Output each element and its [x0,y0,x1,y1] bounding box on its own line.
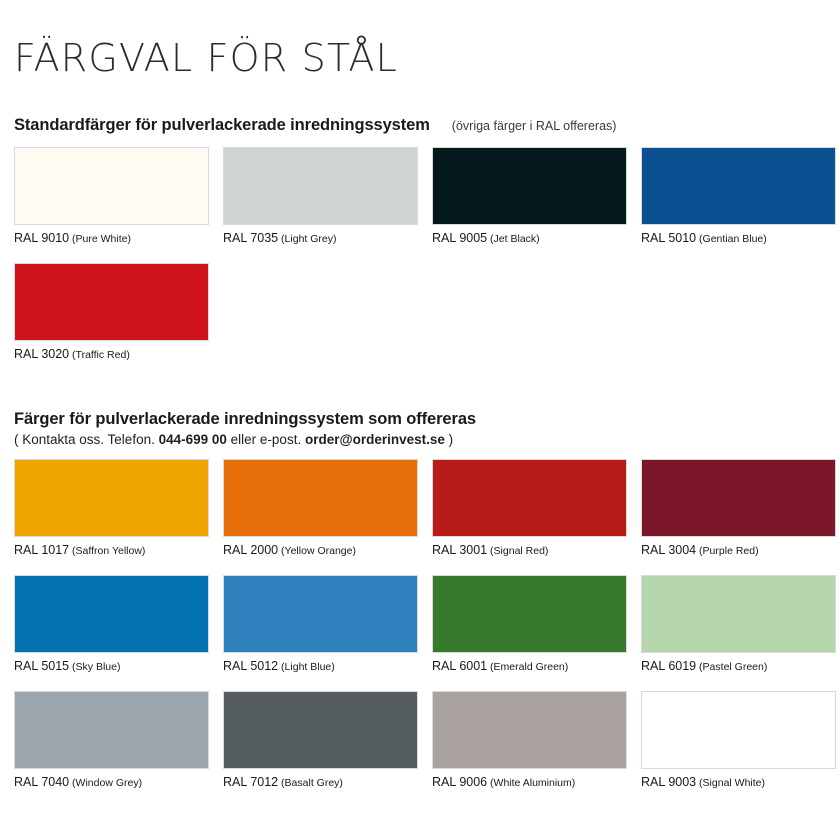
offered-color-grid: RAL 1017 (Saffron Yellow)RAL 2000 (Yello… [14,459,826,807]
swatch-ral-code: RAL 9005 [432,231,487,245]
swatch-label: RAL 1017 (Saffron Yellow) [14,542,209,558]
swatch-label: RAL 5012 (Light Blue) [223,658,418,674]
swatch-color-name: (Purple Red) [696,545,758,557]
swatch-color-name: (Pure White) [69,233,131,245]
swatch-label: RAL 9003 (Signal White) [641,774,836,790]
swatch-ral-code: RAL 1017 [14,543,69,557]
swatch-ral-code: RAL 6019 [641,659,696,673]
swatch-color-name: (Light Grey) [278,233,336,245]
color-swatch[interactable] [432,575,627,653]
swatch-label: RAL 9006 (White Aluminium) [432,774,627,790]
swatch-cell[interactable]: RAL 9006 (White Aluminium) [432,691,627,790]
swatch-cell[interactable]: RAL 5012 (Light Blue) [223,575,418,674]
swatch-color-name: (Signal Red) [487,545,548,557]
swatch-label: RAL 3004 (Purple Red) [641,542,836,558]
swatch-color-name: (Pastel Green) [696,661,767,673]
swatch-ral-code: RAL 7040 [14,775,69,789]
color-swatch[interactable] [223,459,418,537]
swatch-label: RAL 3020 (Traffic Red) [14,346,209,362]
swatch-ral-code: RAL 7012 [223,775,278,789]
color-swatch[interactable] [14,263,209,341]
swatch-cell[interactable]: RAL 3004 (Purple Red) [641,459,836,558]
swatch-ral-code: RAL 3020 [14,347,69,361]
swatch-label: RAL 6019 (Pastel Green) [641,658,836,674]
swatch-color-name: (Jet Black) [487,233,540,245]
swatch-ral-code: RAL 9003 [641,775,696,789]
swatch-color-name: (White Aluminium) [487,777,575,789]
contact-prefix: ( Kontakta oss. Telefon. [14,432,159,447]
swatch-cell[interactable]: RAL 1017 (Saffron Yellow) [14,459,209,558]
color-swatch[interactable] [14,147,209,225]
swatch-color-name: (Basalt Grey) [278,777,343,789]
swatch-cell[interactable]: RAL 6001 (Emerald Green) [432,575,627,674]
swatch-cell[interactable]: RAL 3020 (Traffic Red) [14,263,209,362]
swatch-color-name: (Sky Blue) [69,661,120,673]
color-swatch[interactable] [641,691,836,769]
color-swatch[interactable] [223,575,418,653]
swatch-color-name: (Light Blue) [278,661,335,673]
swatch-label: RAL 9005 (Jet Black) [432,230,627,246]
color-swatch[interactable] [223,147,418,225]
swatch-ral-code: RAL 9010 [14,231,69,245]
swatch-label: RAL 2000 (Yellow Orange) [223,542,418,558]
contact-phone[interactable]: 044-699 00 [159,432,227,447]
color-swatch[interactable] [641,459,836,537]
swatch-cell[interactable]: RAL 5015 (Sky Blue) [14,575,209,674]
color-chart-page: FÄRGVAL FÖR STÅL Standardfärger för pulv… [0,0,840,840]
contact-email[interactable]: order@orderinvest.se [305,432,445,447]
swatch-cell[interactable]: RAL 2000 (Yellow Orange) [223,459,418,558]
color-swatch[interactable] [432,459,627,537]
swatch-label: RAL 7040 (Window Grey) [14,774,209,790]
section-offered-header: Färger för pulverlackerade inredningssys… [14,410,826,447]
swatch-cell[interactable]: RAL 9010 (Pure White) [14,147,209,246]
color-swatch[interactable] [14,459,209,537]
swatch-color-name: (Signal White) [696,777,765,789]
swatch-cell[interactable]: RAL 7035 (Light Grey) [223,147,418,246]
swatch-ral-code: RAL 6001 [432,659,487,673]
color-swatch[interactable] [432,147,627,225]
color-swatch[interactable] [641,575,836,653]
swatch-ral-code: RAL 3001 [432,543,487,557]
swatch-color-name: (Saffron Yellow) [69,545,145,557]
swatch-label: RAL 9010 (Pure White) [14,230,209,246]
swatch-cell[interactable]: RAL 5010 (Gentian Blue) [641,147,836,246]
section-offered-title: Färger för pulverlackerade inredningssys… [14,410,826,429]
swatch-ral-code: RAL 9006 [432,775,487,789]
page-title: FÄRGVAL FÖR STÅL [14,0,826,80]
swatch-cell[interactable]: RAL 9003 (Signal White) [641,691,836,790]
swatch-label: RAL 3001 (Signal Red) [432,542,627,558]
color-swatch[interactable] [223,691,418,769]
swatch-label: RAL 5010 (Gentian Blue) [641,230,836,246]
swatch-color-name: (Window Grey) [69,777,142,789]
swatch-label: RAL 7035 (Light Grey) [223,230,418,246]
swatch-color-name: (Traffic Red) [69,349,130,361]
swatch-ral-code: RAL 5015 [14,659,69,673]
swatch-color-name: (Yellow Orange) [278,545,356,557]
swatch-ral-code: RAL 5012 [223,659,278,673]
swatch-cell[interactable]: RAL 7012 (Basalt Grey) [223,691,418,790]
swatch-cell[interactable]: RAL 7040 (Window Grey) [14,691,209,790]
swatch-label: RAL 7012 (Basalt Grey) [223,774,418,790]
swatch-cell[interactable]: RAL 9005 (Jet Black) [432,147,627,246]
section-standard-colors: Standardfärger för pulverlackerade inred… [14,116,826,379]
swatch-color-name: (Emerald Green) [487,661,568,673]
swatch-label: RAL 6001 (Emerald Green) [432,658,627,674]
section-standard-title: Standardfärger för pulverlackerade inred… [14,116,430,135]
swatch-ral-code: RAL 2000 [223,543,278,557]
color-swatch[interactable] [14,575,209,653]
swatch-ral-code: RAL 3004 [641,543,696,557]
swatch-cell[interactable]: RAL 6019 (Pastel Green) [641,575,836,674]
swatch-color-name: (Gentian Blue) [696,233,767,245]
section-offered-colors: Färger för pulverlackerade inredningssys… [14,410,826,807]
swatch-cell[interactable]: RAL 3001 (Signal Red) [432,459,627,558]
contact-line: ( Kontakta oss. Telefon. 044-699 00 elle… [14,432,826,447]
section-standard-header: Standardfärger för pulverlackerade inred… [14,116,826,135]
color-swatch[interactable] [14,691,209,769]
contact-middle: eller e-post. [227,432,305,447]
section-standard-note: (övriga färger i RAL offereras) [452,119,617,133]
swatch-ral-code: RAL 5010 [641,231,696,245]
color-swatch[interactable] [641,147,836,225]
color-swatch[interactable] [432,691,627,769]
swatch-label: RAL 5015 (Sky Blue) [14,658,209,674]
contact-suffix: ) [445,432,453,447]
standard-color-grid: RAL 9010 (Pure White)RAL 7035 (Light Gre… [14,147,826,379]
swatch-ral-code: RAL 7035 [223,231,278,245]
